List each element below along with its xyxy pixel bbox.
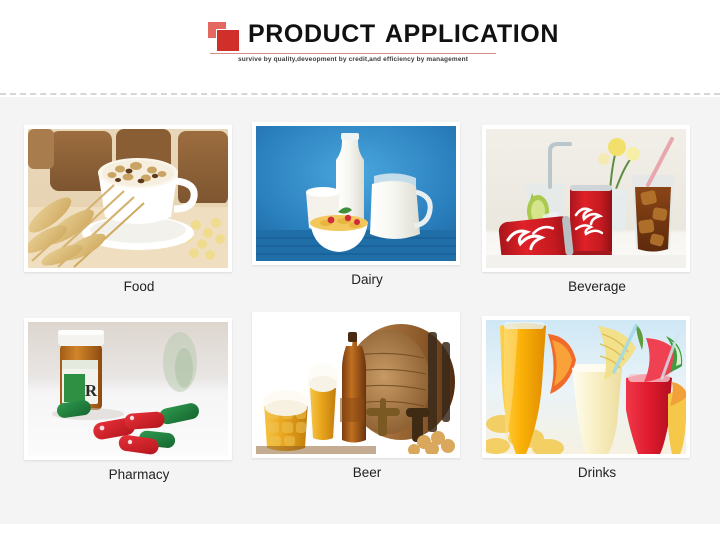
gallery-label-beer: Beer bbox=[252, 464, 482, 482]
gallery-label-pharmacy: Pharmacy bbox=[24, 466, 254, 484]
milk-bottle-and-jug-photo bbox=[256, 126, 456, 261]
gallery-cell-beverage[interactable]: Beverage bbox=[482, 125, 712, 296]
slide-root: PRODUCTAPPLICATION survive by quality,de… bbox=[0, 0, 720, 542]
pill-bottle-and-capsules-photo: R bbox=[28, 322, 228, 456]
header-divider bbox=[0, 93, 720, 95]
gallery-label-dairy: Dairy bbox=[252, 271, 482, 289]
gallery-card-drinks[interactable] bbox=[482, 316, 690, 458]
gallery-card-beverage[interactable] bbox=[482, 125, 690, 272]
gallery-cell-drinks[interactable]: Drinks bbox=[482, 316, 712, 482]
svg-text:R: R bbox=[85, 381, 98, 400]
gallery-label-food: Food bbox=[24, 278, 254, 296]
gallery-cell-pharmacy[interactable]: R bbox=[24, 318, 254, 484]
gallery-card-dairy[interactable] bbox=[252, 122, 460, 265]
logo-square-front bbox=[217, 30, 239, 51]
gallery-grid: Food bbox=[0, 97, 720, 524]
title-underline bbox=[210, 53, 496, 54]
gallery-label-beverage: Beverage bbox=[482, 278, 712, 296]
coca-cola-cans-photo bbox=[486, 129, 686, 268]
beer-glasses-and-barrel-photo bbox=[256, 316, 456, 454]
fruit-smoothies-photo bbox=[486, 320, 686, 454]
content-panel: Food bbox=[0, 97, 720, 524]
gallery-cell-beer[interactable]: Beer bbox=[252, 312, 482, 482]
logo-block: PRODUCTAPPLICATION survive by quality,de… bbox=[208, 16, 508, 72]
gallery-cell-food[interactable]: Food bbox=[24, 125, 254, 296]
page-title: PRODUCTAPPLICATION bbox=[248, 19, 559, 49]
page-title-part1: PRODUCT bbox=[248, 20, 376, 48]
tagline: survive by quality,deveopment by credit,… bbox=[208, 56, 498, 63]
cereal-bowl-with-wheat-photo bbox=[28, 129, 228, 268]
page-title-part2: APPLICATION bbox=[385, 20, 559, 48]
header: PRODUCTAPPLICATION survive by quality,de… bbox=[0, 0, 720, 94]
two-red-squares-logo-icon bbox=[208, 22, 244, 54]
gallery-label-drinks: Drinks bbox=[482, 464, 712, 482]
gallery-card-food[interactable] bbox=[24, 125, 232, 272]
gallery-cell-dairy[interactable]: Dairy bbox=[252, 122, 482, 289]
footer-strip bbox=[0, 524, 720, 542]
gallery-card-beer[interactable] bbox=[252, 312, 460, 458]
gallery-card-pharmacy[interactable]: R bbox=[24, 318, 232, 460]
